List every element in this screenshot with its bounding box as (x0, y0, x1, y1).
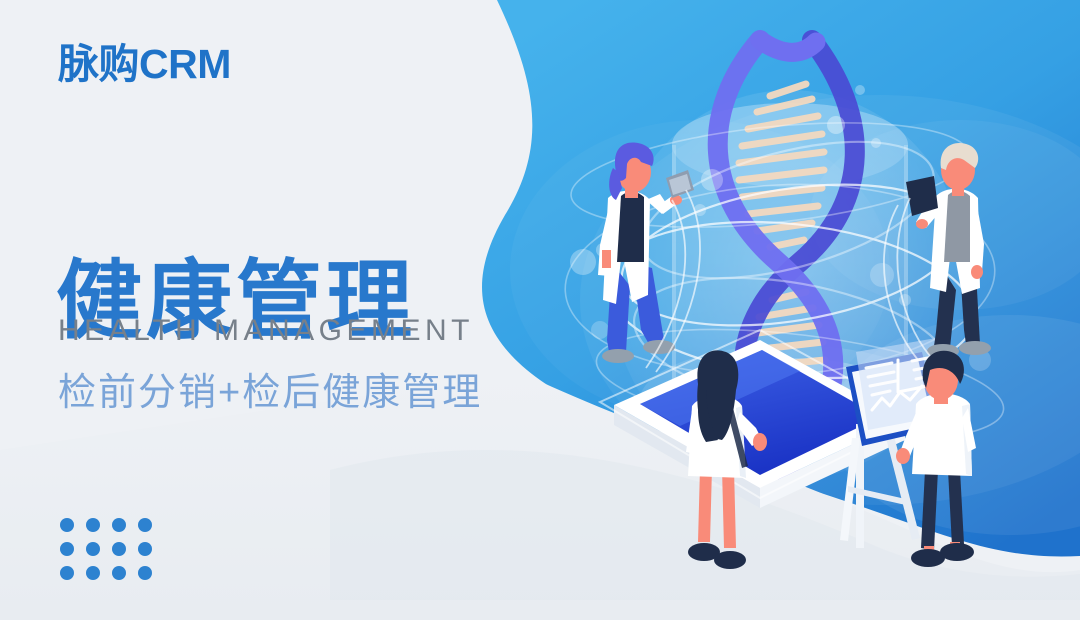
grid-dot (112, 542, 126, 556)
subtitle-chinese: 检前分销+检后健康管理 (58, 372, 482, 416)
grid-dot (86, 566, 100, 580)
grid-dot (112, 518, 126, 532)
grid-dot (86, 542, 100, 556)
brand-logo[interactable]: 脉购CRM (58, 44, 231, 85)
grid-dot (86, 518, 100, 532)
dot-grid-decoration (60, 518, 164, 590)
grid-dot (60, 566, 74, 580)
subtitle-english: HEALTH MANAGEMENT (58, 314, 474, 347)
grid-dot (138, 518, 152, 532)
grid-dot (138, 566, 152, 580)
grid-dot (60, 542, 74, 556)
grid-dot (112, 566, 126, 580)
health-management-banner: 脉购CRM 健康管理 HEALTH MANAGEMENT 检前分销+检后健康管理 (0, 0, 1080, 620)
grid-dot (138, 542, 152, 556)
grid-dot (60, 518, 74, 532)
